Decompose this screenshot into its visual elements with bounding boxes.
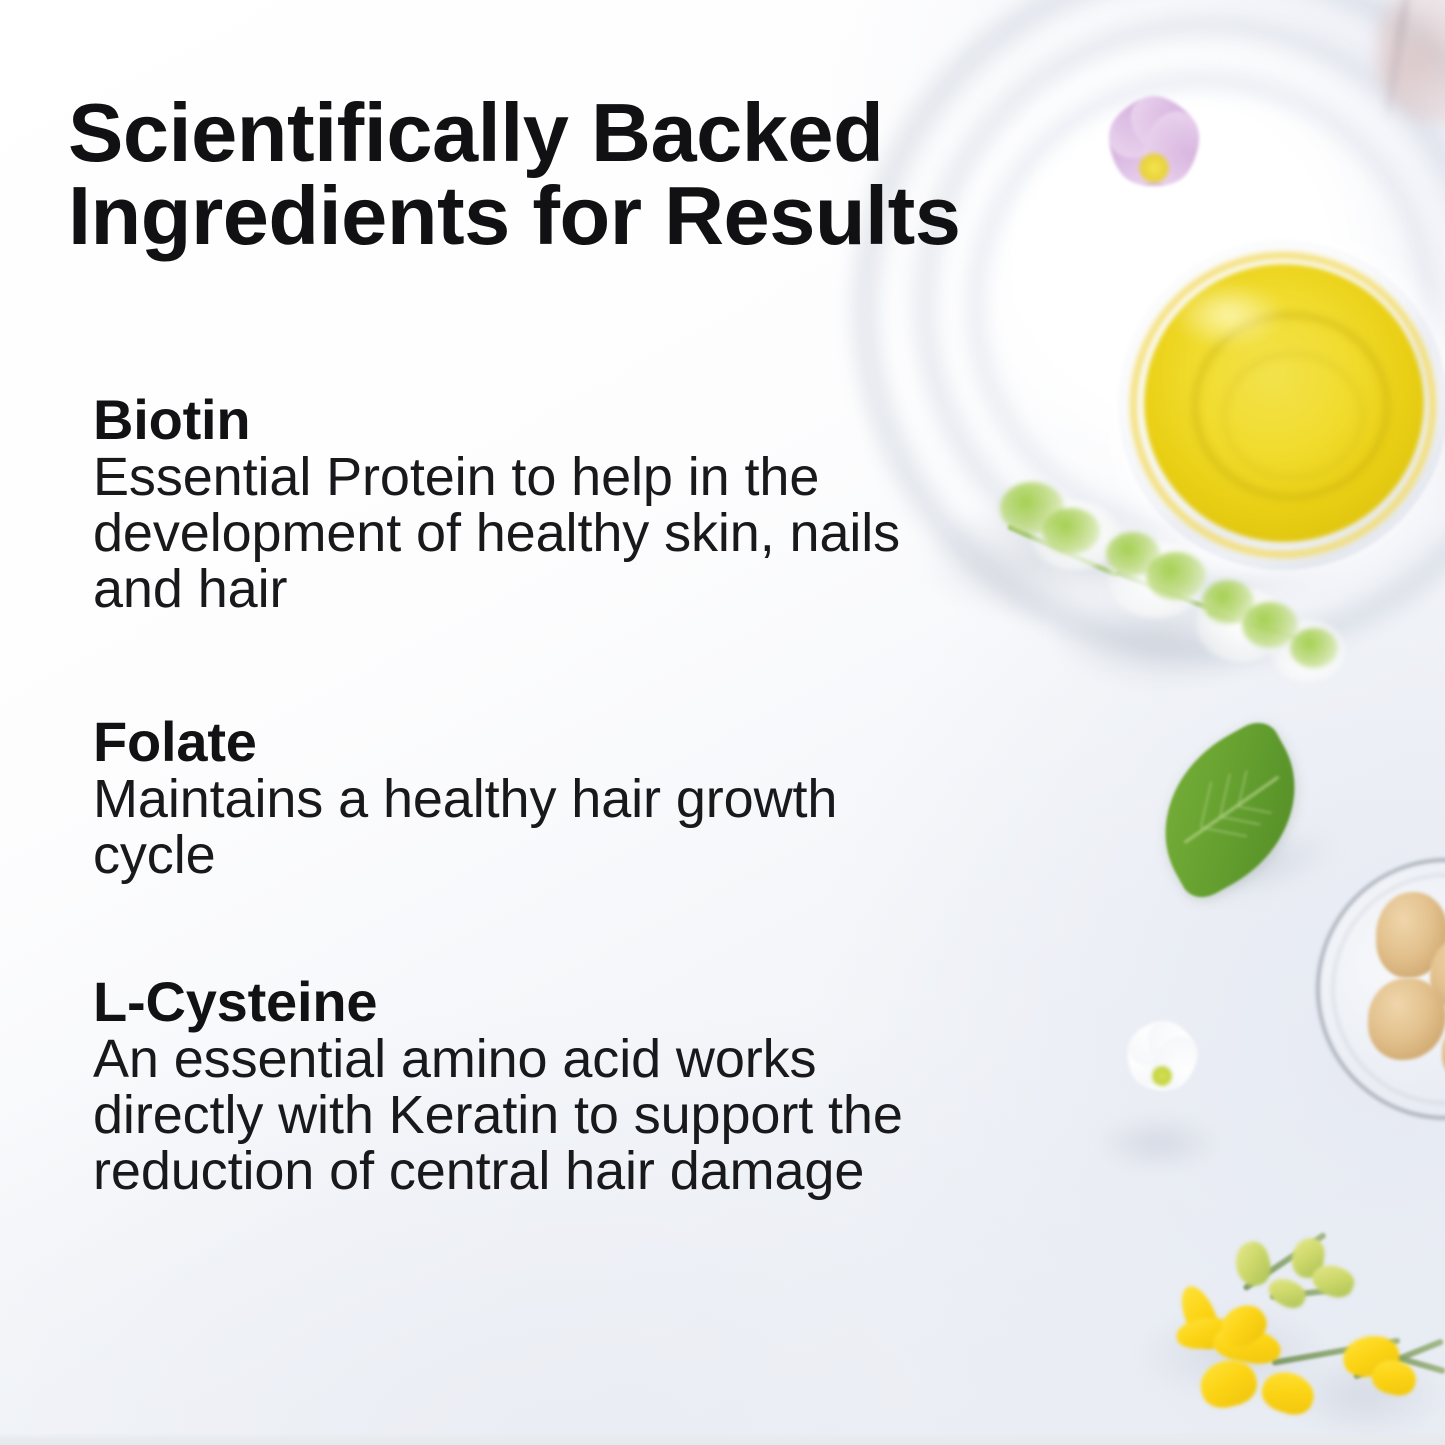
ingredient-description-l-cysteine: An essential amino acid works directly w… xyxy=(93,1032,973,1200)
sprig-leaf-tuft xyxy=(1042,508,1100,554)
ingredient-block-folate: Folate Maintains a healthy hair growth c… xyxy=(93,714,973,884)
sprig-leaf-tuft xyxy=(1146,552,1206,600)
bottom-edge-band xyxy=(0,1433,1445,1445)
ingredient-name-folate: Folate xyxy=(93,714,973,770)
glass-bowl-with-nuts xyxy=(1316,858,1445,1120)
ingredient-infographic: Scientifically Backed Ingredients for Re… xyxy=(0,0,1445,1445)
ingredient-block-biotin: Biotin Essential Protein to help in the … xyxy=(93,392,973,618)
white-flower xyxy=(1094,1008,1230,1144)
ingredient-name-l-cysteine: L-Cysteine xyxy=(93,974,973,1030)
oil-bowl-highlight xyxy=(1172,282,1284,348)
ingredient-description-biotin: Essential Protein to help in the develop… xyxy=(93,450,973,618)
green-flowering-herb-sprig xyxy=(930,470,1350,710)
yellow-flower-cluster xyxy=(1140,1232,1445,1445)
ingredient-block-l-cysteine: L-Cysteine An essential amino acid works… xyxy=(93,974,973,1200)
ingredient-description-folate: Maintains a healthy hair growth cycle xyxy=(93,772,973,884)
page-title: Scientifically Backed Ingredients for Re… xyxy=(68,92,1158,257)
oil-surface-ring xyxy=(1222,352,1364,480)
sprig-leaf-tuft xyxy=(1290,628,1338,668)
sprig-leaf-tuft xyxy=(1242,602,1298,648)
flower-bud xyxy=(1264,1273,1310,1314)
ingredient-name-biotin: Biotin xyxy=(93,392,973,448)
flower-bud xyxy=(1231,1238,1276,1290)
white-flower-center xyxy=(1152,1066,1172,1086)
